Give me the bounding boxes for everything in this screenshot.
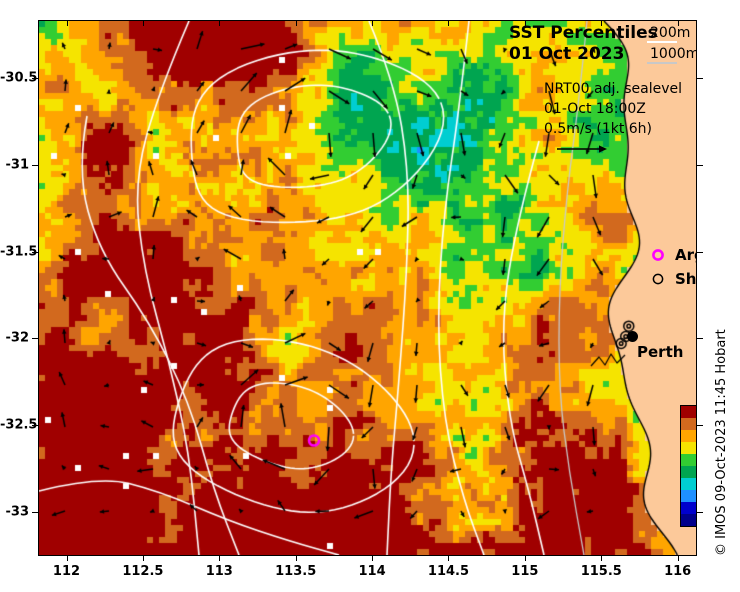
- x-axis-tick: [143, 555, 144, 561]
- colorbar-band: [681, 406, 697, 418]
- colorbar: 020406080100: [680, 405, 697, 527]
- ship-marker-icon: [651, 272, 665, 286]
- x-axis-tick: [678, 555, 679, 561]
- y-axis-label: -32: [0, 331, 29, 346]
- info-line-product: NRT00 adj. sealevel: [544, 81, 682, 97]
- map-plot-area[interactable]: SST Percentiles01 Oct 2023 200m1000m NRT…: [38, 20, 697, 556]
- colorbar-band: [681, 418, 697, 430]
- y-axis-tick: [32, 165, 38, 166]
- x-axis-tick: [296, 555, 297, 561]
- y-axis-label: -31.5: [0, 244, 29, 259]
- x-axis-tick-top: [296, 20, 297, 26]
- ship-legend-entry: Ship: [651, 270, 697, 288]
- argo-marker-icon: [651, 248, 665, 262]
- info-line-scale: 0.5m/s (1kt 6h): [544, 121, 652, 137]
- perth-city-label: Perth: [637, 343, 683, 361]
- x-axis-tick: [525, 555, 526, 561]
- depth-1000m-line: [647, 62, 677, 64]
- ship-legend-label: Ship: [675, 270, 697, 288]
- x-axis-label: 113: [206, 564, 233, 579]
- colorbar-band: [681, 490, 697, 502]
- y-axis-tick-right: [697, 512, 703, 513]
- x-axis-label: 116: [664, 564, 691, 579]
- x-axis-tick-top: [372, 20, 373, 26]
- y-axis-label: -33: [0, 504, 29, 519]
- x-axis-tick-top: [601, 20, 602, 26]
- colorbar-gradient: 020406080100: [680, 405, 697, 527]
- velocity-scale-arrow-icon: [555, 143, 611, 155]
- y-axis-tick: [32, 338, 38, 339]
- colorbar-band: [681, 442, 697, 454]
- depth-1000m-label: 1000m: [650, 46, 697, 62]
- colorbar-band: [681, 478, 697, 490]
- info-block: NRT00 adj. sealevel01-Oct 18:00Z0.5m/s (…: [544, 79, 682, 139]
- y-axis-tick-right: [697, 425, 703, 426]
- x-axis-tick-top: [448, 20, 449, 26]
- argo-legend-label: Argo: [675, 246, 697, 264]
- argo-legend-entry: Argo: [651, 246, 697, 264]
- map-title: SST Percentiles01 Oct 2023: [509, 23, 658, 65]
- x-axis-label: 113.5: [275, 564, 316, 579]
- colorbar-band: [681, 430, 697, 442]
- x-axis-tick-top: [678, 20, 679, 26]
- x-axis-tick-top: [143, 20, 144, 26]
- y-axis-tick-right: [697, 165, 703, 166]
- x-axis-tick-top: [219, 20, 220, 26]
- x-axis-tick: [67, 555, 68, 561]
- y-axis-tick-right: [697, 78, 703, 79]
- copyright-credit: © IMOS 09-Oct-2023 11:45 Hobart: [714, 329, 729, 556]
- x-axis-tick-top: [525, 20, 526, 26]
- info-line-time: 01-Oct 18:00Z: [544, 101, 646, 117]
- sst-percentile-map: SST Percentiles01 Oct 2023 200m1000m NRT…: [0, 0, 740, 592]
- map-title-line1: SST Percentiles: [509, 23, 658, 43]
- perth-city-dot: [627, 331, 638, 342]
- colorbar-band: [681, 502, 697, 514]
- x-axis-label: 115.5: [581, 564, 622, 579]
- x-axis-label: 112: [53, 564, 80, 579]
- y-axis-label: -31: [0, 157, 29, 172]
- x-axis-tick: [372, 555, 373, 561]
- map-title-line2: 01 Oct 2023: [509, 44, 624, 64]
- y-axis-tick-right: [697, 338, 703, 339]
- y-axis-label: -30.5: [0, 71, 29, 86]
- x-axis-tick-top: [67, 20, 68, 26]
- x-axis-label: 114.5: [428, 564, 469, 579]
- x-axis-label: 112.5: [122, 564, 163, 579]
- x-axis-tick: [448, 555, 449, 561]
- x-axis-label: 115: [511, 564, 538, 579]
- y-axis-label: -32.5: [0, 417, 29, 432]
- colorbar-band: [681, 466, 697, 478]
- depth-200m-label: 200m: [650, 25, 690, 41]
- depth-legend: 200m1000m: [650, 23, 697, 65]
- y-axis-tick-right: [697, 252, 703, 253]
- x-axis-tick: [601, 555, 602, 561]
- colorbar-band: [681, 454, 697, 466]
- y-axis-tick: [32, 512, 38, 513]
- depth-200m-line: [647, 41, 677, 43]
- x-axis-label: 114: [359, 564, 386, 579]
- x-axis-tick: [219, 555, 220, 561]
- colorbar-band: [681, 514, 697, 526]
